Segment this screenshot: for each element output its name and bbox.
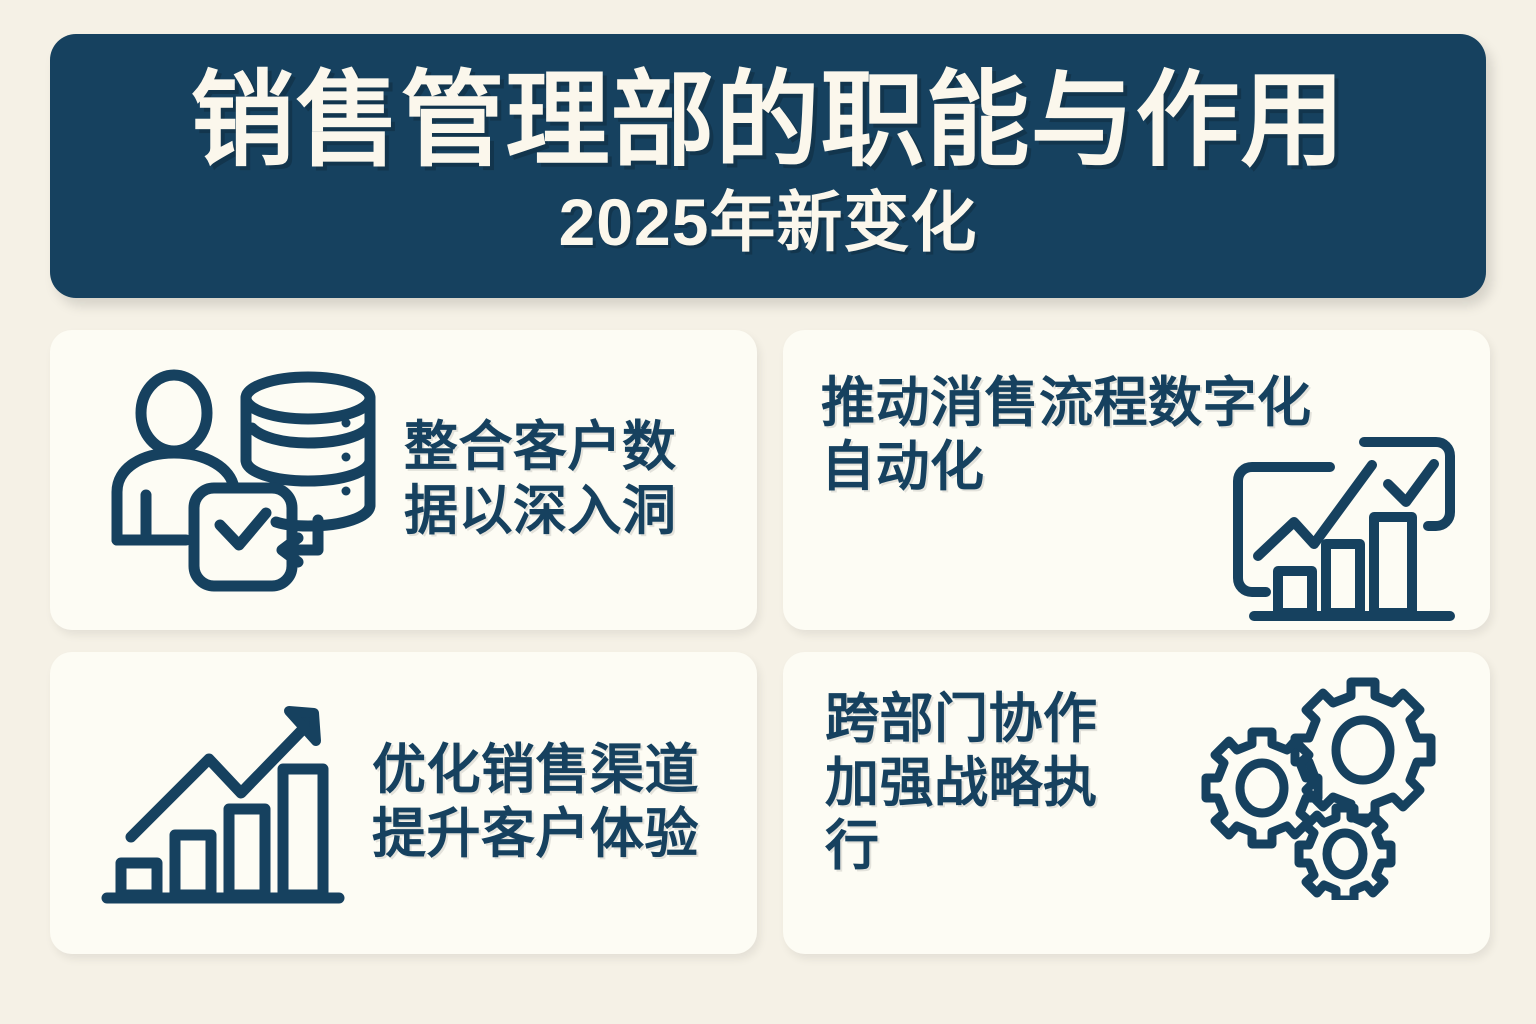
card-sales-process-digitalization: 推动消售流程数字化 自动化 <box>783 330 1490 630</box>
header-banner: 销售管理部的职能与作用 2025年新变化 <box>50 34 1486 298</box>
growth-arrow-bars-icon <box>84 697 366 909</box>
card-3-label: 优化销售渠道 提升客户体验 <box>372 739 699 866</box>
card-4-label: 跨部门协作 加强战略执 行 <box>825 688 1098 879</box>
cards-grid: 整合客户数 据以深入洞 推动消售流程数字化 自动化 <box>50 330 1490 980</box>
person-database-checklist-icon <box>106 365 378 595</box>
card-cross-department-collaboration: 跨部门协作 加强战略执 行 <box>783 652 1490 954</box>
three-gears-icon <box>1200 674 1450 900</box>
chart-screen-check-icon <box>1222 432 1466 624</box>
page-subtitle: 2025年新变化 <box>559 186 978 259</box>
card-sales-channel-optimization: 优化销售渠道 提升客户体验 <box>50 652 757 954</box>
card-customer-data-integration: 整合客户数 据以深入洞 <box>50 330 757 630</box>
infographic-page: 销售管理部的职能与作用 2025年新变化 <box>0 0 1536 1024</box>
page-title: 销售管理部的职能与作用 <box>190 63 1345 179</box>
card-1-label: 整合客户数 据以深入洞 <box>404 416 677 543</box>
